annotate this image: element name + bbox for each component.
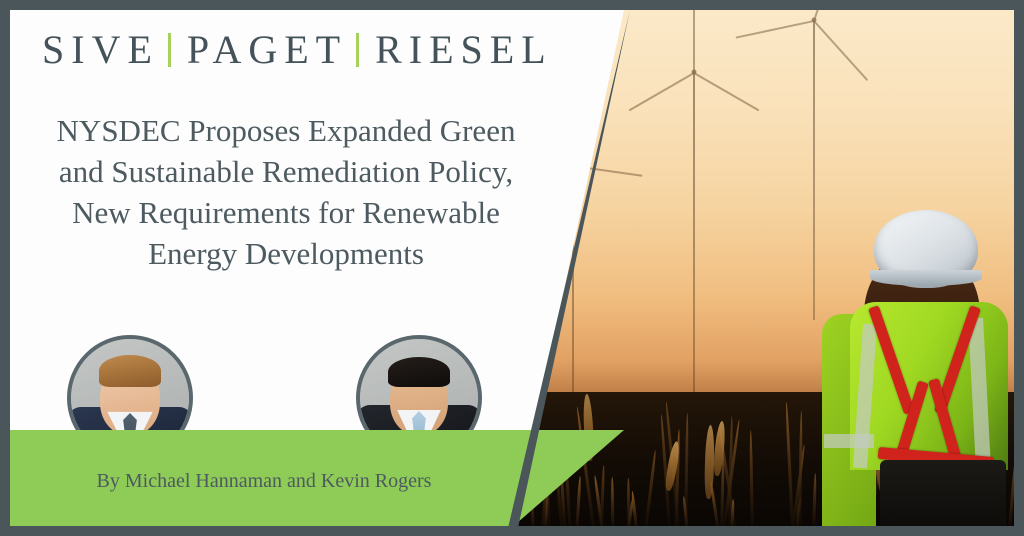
turbine-blade — [693, 10, 695, 73]
brand-word-paget: PAGET — [187, 26, 347, 73]
wind-energy-worker — [812, 196, 1014, 526]
article-byline: By Michael Hannaman and Kevin Rogers — [24, 470, 504, 493]
worker-trousers — [880, 460, 1006, 526]
reflective-stripe-cuff — [824, 434, 874, 448]
brand-separator-icon — [356, 33, 359, 67]
avatar-hair — [99, 355, 161, 387]
brand-logo[interactable]: SIVE PAGET RIESEL — [42, 26, 553, 73]
worker-hard-hat-brim — [870, 270, 982, 286]
turbine-mast — [693, 72, 695, 402]
turbine-hub — [691, 69, 696, 74]
brand-separator-icon — [168, 33, 171, 67]
avatar-hair — [388, 357, 450, 387]
wind-turbine — [693, 72, 695, 402]
article-headline: NYSDEC Proposes Expanded Green and Susta… — [34, 110, 538, 274]
turbine-hub — [812, 18, 817, 23]
brand-word-sive: SIVE — [42, 26, 159, 73]
social-share-card: SIVE PAGET RIESEL NYSDEC Proposes Expand… — [0, 0, 1024, 536]
brand-word-riesel: RIESEL — [375, 26, 553, 73]
